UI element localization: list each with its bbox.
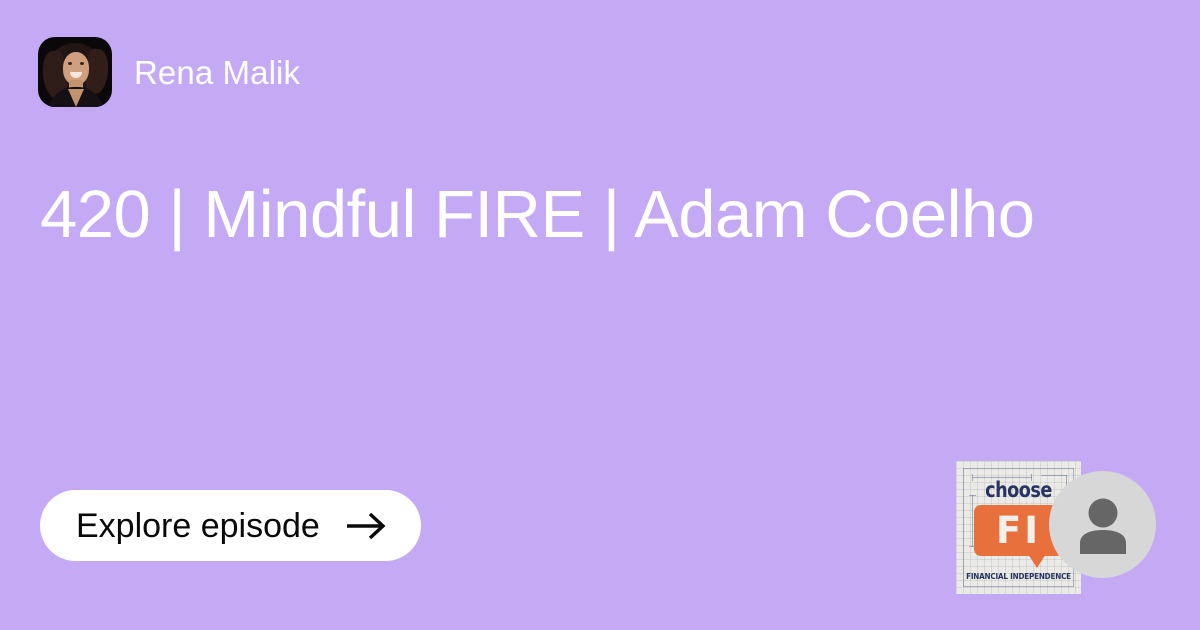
episode-share-card: Rena Malik 420 | Mindful FIRE | Adam Coe…	[0, 0, 1200, 630]
show-header: Rena Malik	[38, 37, 300, 107]
avatar-eye-right	[80, 62, 84, 65]
explore-episode-button[interactable]: Explore episode	[40, 490, 421, 561]
blueprint-corner-line-h	[1041, 475, 1067, 476]
logo-speech-bubble-tail	[1028, 554, 1046, 568]
guest-avatar	[1049, 471, 1156, 578]
show-name: Rena Malik	[134, 56, 300, 89]
logo-tagline: FINANCIAL INDEPENDENCE	[962, 572, 1075, 581]
explore-episode-label: Explore episode	[76, 509, 320, 543]
blueprint-dimension-line-left	[972, 495, 973, 547]
avatar-eye-left	[68, 62, 72, 65]
episode-title: 420 | Mindful FIRE | Adam Coelho	[40, 177, 1160, 252]
arrow-right-icon	[346, 511, 387, 541]
person-placeholder-icon	[1073, 496, 1133, 554]
show-avatar	[38, 37, 112, 107]
artwork-cluster: choose FI FINANCIAL INDEPENDENCE	[950, 463, 1170, 598]
